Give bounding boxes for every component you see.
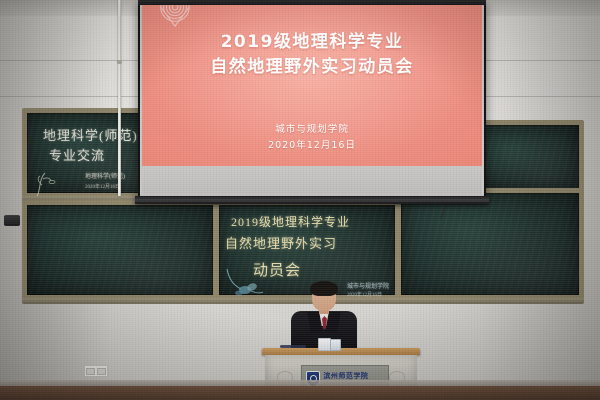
concentric-circle-watermark-icon bbox=[156, 4, 194, 28]
board-inner-frame bbox=[473, 125, 579, 189]
chalk-center-line1: 2019级地理科学专业 bbox=[231, 213, 350, 230]
chalk-tray-right bbox=[396, 298, 584, 304]
board-inner-frame bbox=[27, 205, 213, 295]
slide-subtitle-org: 城市与规划学院 bbox=[142, 122, 482, 138]
wall-baseboard bbox=[0, 386, 600, 400]
chalk-upper-left-line2: 专业交流 bbox=[49, 145, 105, 164]
chalk-center-line2: 自然地理野外实习 bbox=[225, 233, 337, 252]
wall-socket-panel bbox=[84, 365, 108, 377]
microphone-cable bbox=[280, 345, 306, 348]
chalk-upper-left-line1: 地理科学(师范) bbox=[43, 125, 138, 144]
blackboard-lower-left bbox=[22, 200, 218, 300]
podium-wooden-top bbox=[262, 348, 420, 355]
socket-slot bbox=[86, 368, 95, 375]
chalk-flower-decoration-icon bbox=[223, 265, 265, 299]
slide-title-line2: 自然地理野外实习动员会 bbox=[142, 55, 482, 80]
tissue-box-secondary bbox=[330, 339, 341, 351]
lecture-hall-photo: 地理科学(师范) 专业交流 地理科学(师范) 2020年12月16日 2019级… bbox=[0, 0, 600, 400]
board-inner-frame bbox=[401, 193, 579, 295]
podium-sign-chinese: 滨州师范学院 bbox=[323, 373, 368, 380]
slide-subtitle-date: 2020年12月16日 bbox=[142, 138, 482, 154]
projector-screen-pole bbox=[118, 0, 121, 196]
screen-roller-bar bbox=[138, 0, 486, 5]
slide-title-line1: 2019级地理科学专业 bbox=[142, 30, 482, 55]
slide-title-block: 2019级地理科学专业 自然地理野外实习动员会 bbox=[142, 30, 482, 80]
chalk-upper-left-note2: 2020年12月16日 bbox=[85, 183, 120, 190]
wall-mounted-sensor-icon bbox=[4, 215, 20, 226]
hair bbox=[310, 281, 338, 296]
blackboard-right bbox=[396, 188, 584, 300]
pole-joint bbox=[117, 60, 122, 64]
slide-subtitle-block: 城市与规划学院 2020年12月16日 bbox=[142, 122, 482, 154]
socket-slot bbox=[97, 368, 106, 375]
screen-blank-area bbox=[142, 166, 482, 194]
chalk-vine-decoration-icon bbox=[31, 165, 65, 199]
projected-slide: 2019级地理科学专业 自然地理野外实习动员会 城市与规划学院 2020年12月… bbox=[142, 4, 482, 166]
projection-screen: 2019级地理科学专业 自然地理野外实习动员会 城市与规划学院 2020年12月… bbox=[138, 0, 486, 198]
screen-bottom-weight-bar bbox=[135, 196, 489, 204]
